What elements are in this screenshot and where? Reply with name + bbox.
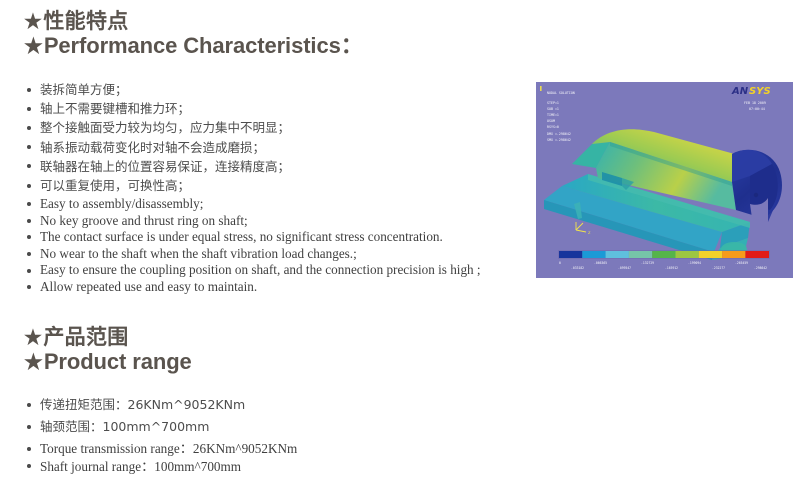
list-item-label: 整个接触面受力较为均匀，应力集中不明显； xyxy=(40,120,290,135)
product-range-heading: ★产品范围 ★Product range xyxy=(24,326,192,374)
bullet-icon xyxy=(27,184,31,188)
list-item-label: 轴系振动载荷变化时对轴不会造成磨损； xyxy=(40,140,265,155)
svg-text:SYS: SYS xyxy=(749,86,771,97)
bullet-icon xyxy=(27,145,31,149)
page-root: ★性能特点 ★Performance Characteristics： 装拆简单… xyxy=(0,0,811,477)
list-item: Easy to assembly/disassembly; xyxy=(26,196,481,213)
star-icon: ★ xyxy=(24,11,42,34)
bullet-icon xyxy=(27,447,31,451)
list-item-label: 可以重复使用，可换性高； xyxy=(40,178,190,193)
bullet-icon xyxy=(27,107,31,111)
list-item-label: 轴上不需要键槽和推力环； xyxy=(40,101,190,116)
list-item: 可以重复使用，可换性高； xyxy=(26,176,290,195)
svg-text:NODAL SOLUTION: NODAL SOLUTION xyxy=(547,91,575,95)
list-item-label: Easy to ensure the coupling position on … xyxy=(40,262,481,277)
svg-text:.199094: .199094 xyxy=(688,261,701,265)
list-item: 轴颈范围：100mm^700mm xyxy=(26,416,245,438)
bullet-icon xyxy=(27,126,31,130)
list-item: The contact surface is under equal stres… xyxy=(26,229,481,246)
svg-text:.066365: .066365 xyxy=(594,261,607,265)
product-range-heading-en: ★Product range xyxy=(24,350,192,375)
list-item: 轴系振动载荷变化时对轴不会造成磨损； xyxy=(26,138,290,157)
bullet-icon xyxy=(27,285,31,289)
list-item: 联轴器在轴上的位置容易保证，连接精度高； xyxy=(26,157,290,176)
bullet-icon xyxy=(27,219,31,223)
bullet-icon xyxy=(27,403,31,407)
list-item: 整个接触面受力较为均匀，应力集中不明显； xyxy=(26,118,290,137)
list-item: Easy to ensure the coupling position on … xyxy=(26,262,481,279)
list-item: Allow repeated use and easy to maintain. xyxy=(26,279,481,296)
list-item: 传递扭矩范围：26KNm^9052KNm xyxy=(26,394,245,416)
list-item-label: 联轴器在轴上的位置容易保证，连接精度高； xyxy=(40,159,290,174)
svg-text:.132729: .132729 xyxy=(641,261,654,265)
svg-text:USUM: USUM xyxy=(547,119,555,123)
bullet-icon xyxy=(27,464,31,468)
list-item-label: Allow repeated use and easy to maintain. xyxy=(40,279,257,294)
svg-text:STEP=1: STEP=1 xyxy=(547,101,559,105)
list-item: 轴上不需要键槽和推力环； xyxy=(26,99,290,118)
performance-features-en-list: Easy to assembly/disassembly; No key gro… xyxy=(26,196,481,296)
product-range-heading-en-text: Product range xyxy=(44,349,192,374)
product-range-heading-cn: ★产品范围 xyxy=(24,326,192,350)
bullet-icon xyxy=(27,202,31,206)
list-item-label: Torque transmission range：26KNm^9052KNm xyxy=(40,441,297,456)
list-item-label: Shaft journal range：100mm^700mm xyxy=(40,459,241,474)
fea-svg: NODAL SOLUTION STEP=1 SUB =1 TIME=1 USUM… xyxy=(536,82,793,278)
svg-text:.033182: .033182 xyxy=(571,266,584,270)
product-range-heading-cn-text: 产品范围 xyxy=(43,326,128,349)
svg-text:.165912: .165912 xyxy=(665,266,678,270)
svg-text:TIME=1: TIME=1 xyxy=(547,113,559,117)
ansys-logo: AN SYS xyxy=(731,86,771,97)
performance-features-cn-list: 装拆简单方便； 轴上不需要键槽和推力环； 整个接触面受力较为均匀，应力集中不明显… xyxy=(26,80,290,195)
list-item-label: 传递扭矩范围：26KNm^9052KNm xyxy=(40,397,245,412)
list-item: Torque transmission range：26KNm^9052KNm xyxy=(26,440,297,458)
product-range-en-list: Torque transmission range：26KNm^9052KNm … xyxy=(26,440,297,475)
product-range-cn-list: 传递扭矩范围：26KNm^9052KNm 轴颈范围：100mm^700mm xyxy=(26,394,245,438)
list-item: No key groove and thrust ring on shaft; xyxy=(26,213,481,230)
list-item: Shaft journal range：100mm^700mm xyxy=(26,458,297,476)
list-item: No wear to the shaft when the shaft vibr… xyxy=(26,246,481,263)
bullet-icon xyxy=(27,88,31,92)
svg-text:0: 0 xyxy=(559,261,561,265)
bullet-icon xyxy=(27,235,31,239)
svg-text:07:00:44: 07:00:44 xyxy=(749,107,765,111)
svg-text:.099547: .099547 xyxy=(618,266,631,270)
bullet-icon xyxy=(27,425,31,429)
fea-analysis-image: NODAL SOLUTION STEP=1 SUB =1 TIME=1 USUM… xyxy=(536,82,793,278)
svg-text:.232277: .232277 xyxy=(712,266,725,270)
list-item-label: 轴颈范围：100mm^700mm xyxy=(40,419,209,434)
list-item-label: No wear to the shaft when the shaft vibr… xyxy=(40,246,357,261)
performance-heading-cn: ★性能特点 xyxy=(24,10,363,34)
bullet-icon xyxy=(27,269,31,273)
performance-heading: ★性能特点 ★Performance Characteristics： xyxy=(24,10,363,58)
list-item-label: No key groove and thrust ring on shaft; xyxy=(40,213,248,228)
list-item-label: 装拆简单方便； xyxy=(40,82,128,97)
list-item: 装拆简单方便； xyxy=(26,80,290,99)
bullet-icon xyxy=(27,164,31,168)
star-icon: ★ xyxy=(24,327,42,350)
list-item-label: Easy to assembly/disassembly; xyxy=(40,196,203,211)
svg-text:SMX =.298642: SMX =.298642 xyxy=(547,138,571,142)
svg-text:FEB 18 2009: FEB 18 2009 xyxy=(744,101,766,105)
star-icon: ★ xyxy=(24,351,43,375)
bullet-icon xyxy=(27,252,31,256)
performance-heading-en-text: Performance Characteristics： xyxy=(44,33,363,58)
svg-text:DMX =.298642: DMX =.298642 xyxy=(547,132,571,136)
svg-text:SUB =1: SUB =1 xyxy=(547,107,559,111)
svg-text:.265459: .265459 xyxy=(735,261,748,265)
star-icon: ★ xyxy=(24,35,43,59)
svg-text:AN: AN xyxy=(731,86,749,97)
performance-heading-cn-text: 性能特点 xyxy=(43,10,128,33)
performance-heading-en: ★Performance Characteristics： xyxy=(24,34,363,59)
svg-text:.298642: .298642 xyxy=(754,266,767,270)
list-item-label: The contact surface is under equal stres… xyxy=(40,229,443,244)
svg-text:RSYS=0: RSYS=0 xyxy=(547,125,559,129)
